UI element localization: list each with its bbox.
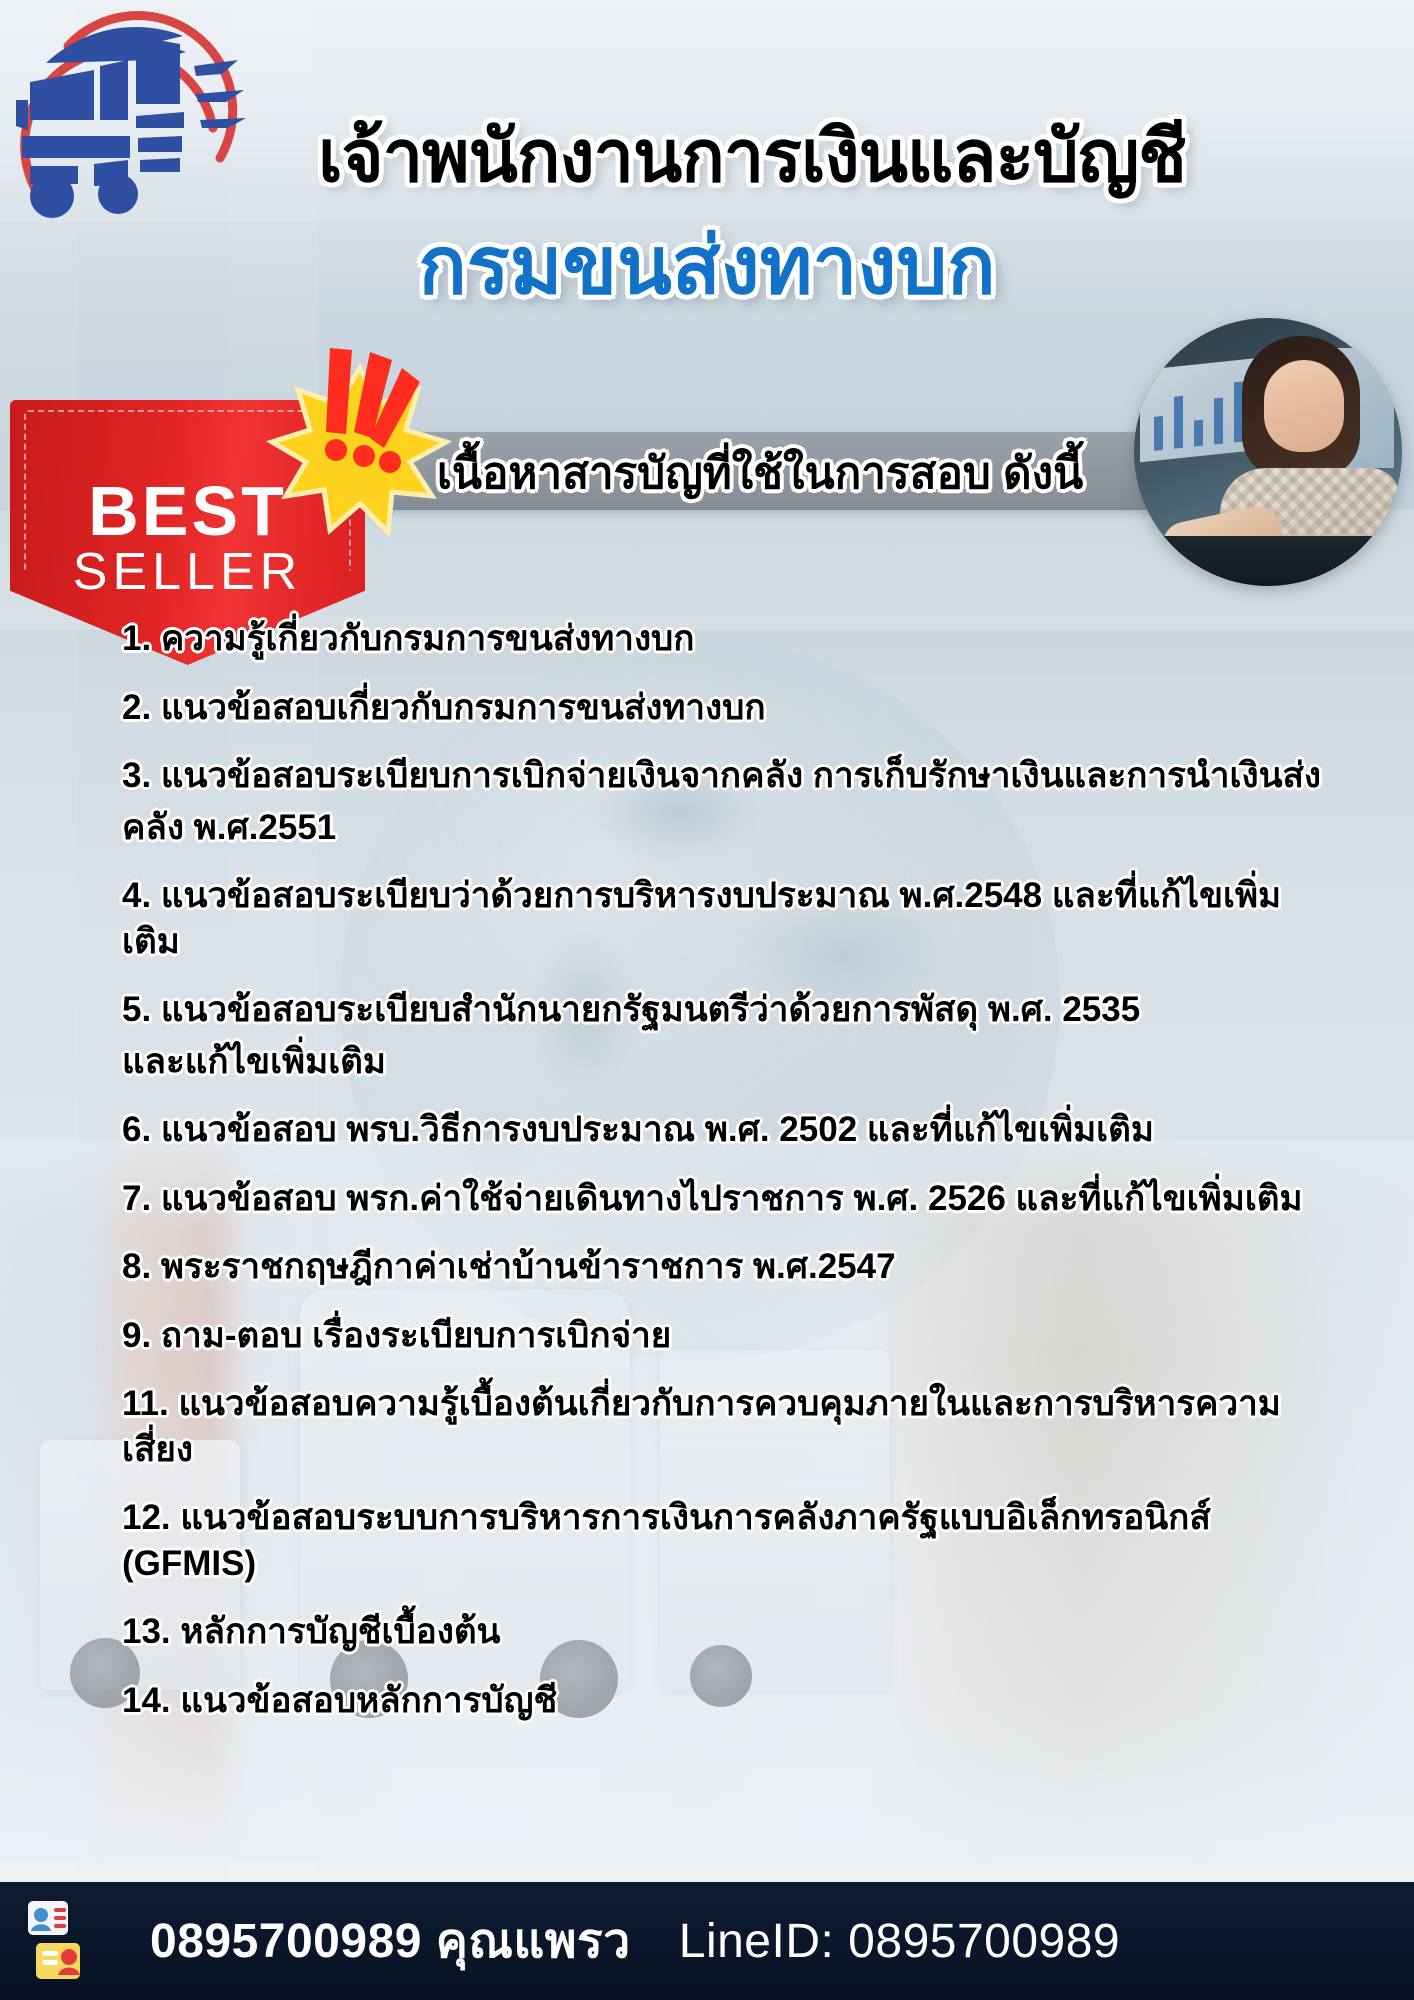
list-item-cont: และแก้ไขเพิ่มเติม xyxy=(122,1039,1322,1085)
footer-text-group: 0895700989 คุณแพรว LineID: 0895700989 xyxy=(150,1903,1120,1979)
list-item-cont: คลัง พ.ศ.2551 xyxy=(122,805,1322,851)
list-item: 6. แนวข้อสอบ พรบ.วิธีการงบประมาณ พ.ศ. 25… xyxy=(122,1107,1322,1153)
photo-desk xyxy=(1134,536,1402,586)
exclamation-starburst-icon xyxy=(260,338,460,538)
list-item: 14. แนวข้อสอบหลักการบัญชี xyxy=(122,1678,1322,1724)
footer-line-id[interactable]: LineID: 0895700989 xyxy=(679,1914,1120,1969)
contact-card-icons xyxy=(26,1897,130,1985)
page-subtitle-org: กรมขนส่งทางบก xyxy=(0,224,1414,308)
footer-contact-bar: 0895700989 คุณแพรว LineID: 0895700989 xyxy=(0,1882,1414,2000)
title-block: เจ้าพนักงานการเงินและบัญชี กรมขนส่งทางบก xyxy=(0,120,1414,308)
list-item: 8. พระราชกฤษฎีกาค่าเช่าบ้านข้าราชการ พ.ศ… xyxy=(122,1244,1322,1290)
poster-root: เจ้าพนักงานการเงินและบัญชี กรมขนส่งทางบก… xyxy=(0,0,1414,2000)
list-item: 11. แนวข้อสอบความรู้เบื้องต้นเกี่ยวกับกา… xyxy=(122,1381,1322,1472)
list-item: 9. ถาม-ตอบ เรื่องระเบียบการเบิกจ่าย xyxy=(122,1313,1322,1359)
avatar-photo xyxy=(1134,318,1402,586)
page-title: เจ้าพนักงานการเงินและบัญชี xyxy=(0,120,1414,196)
list-item: 3. แนวข้อสอบระเบียบการเบิกจ่ายเงินจากคลั… xyxy=(122,753,1322,799)
footer-phone[interactable]: 0895700989 คุณแพรว xyxy=(150,1903,631,1979)
badge-seller-label: SELLER xyxy=(10,545,365,600)
list-item: 7. แนวข้อสอบ พรก.ค่าใช้จ่ายเดินทางไปราชก… xyxy=(122,1176,1322,1222)
content-list: 1. ความรู้เกี่ยวกับกรมการขนส่งทางบก 2. แ… xyxy=(122,616,1322,1746)
photo-person-face xyxy=(1264,360,1344,452)
list-item: 5. แนวข้อสอบระเบียบสำนักนายกรัฐมนตรีว่าด… xyxy=(122,987,1322,1033)
list-item: 13. หลักการบัญชีเบื้องต้น xyxy=(122,1609,1322,1655)
list-item: 4. แนวข้อสอบระเบียบว่าด้วยการบริหารงบประ… xyxy=(122,873,1322,964)
list-item: 12. แนวข้อสอบระบบการบริหารการเงินการคลัง… xyxy=(122,1495,1322,1586)
list-item: 1. ความรู้เกี่ยวกับกรมการขนส่งทางบก xyxy=(122,616,1322,662)
list-item: 2. แนวข้อสอบเกี่ยวกับกรมการขนส่งทางบก xyxy=(122,685,1322,731)
